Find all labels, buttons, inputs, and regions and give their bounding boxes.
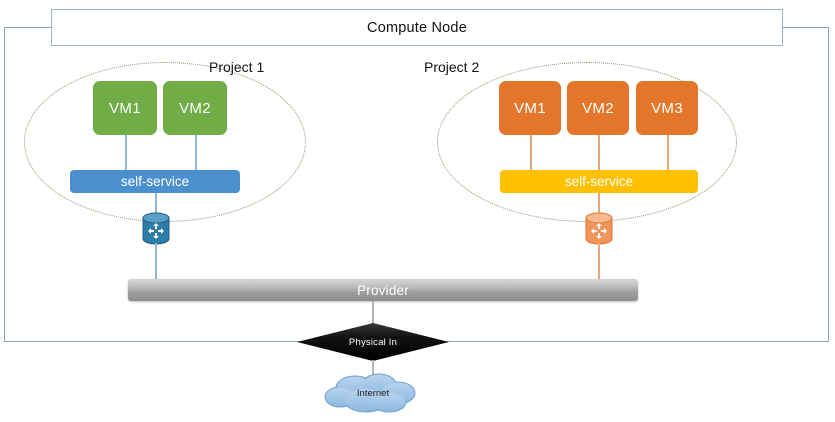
provider-network-label: Provider — [357, 283, 409, 298]
internet-cloud-node[interactable]: Internet — [322, 371, 424, 415]
link-p1-vm2-to-network — [195, 135, 197, 171]
project-2-router-icon[interactable] — [584, 212, 614, 245]
compute-node-title: Compute Node — [367, 20, 467, 36]
project-2-vm-3-label: VM3 — [651, 100, 683, 117]
project-2-vm-1-label: VM1 — [514, 100, 546, 117]
provider-network-bar[interactable]: Provider — [128, 279, 638, 301]
project-2-vm-2[interactable]: VM2 — [567, 81, 629, 135]
project-1-router-icon[interactable] — [141, 212, 171, 245]
project-1-vm-2-label: VM2 — [179, 100, 211, 117]
link-p2-vm3-to-network — [667, 135, 669, 171]
project-1-self-service-network[interactable]: self-service — [70, 170, 240, 193]
link-p2-vm2-to-network — [598, 135, 600, 171]
link-p2-router-to-provider — [598, 243, 600, 280]
link-p1-vm1-to-network — [125, 135, 127, 171]
project-2-vm-3[interactable]: VM3 — [636, 81, 698, 135]
project-2-vm-1[interactable]: VM1 — [499, 81, 561, 135]
link-p2-vm1-to-network — [530, 135, 532, 171]
project-1-vm-2[interactable]: VM2 — [163, 81, 227, 135]
link-p1-router-to-provider — [155, 243, 157, 280]
project-2-self-service-label: self-service — [565, 174, 633, 189]
physical-interface-node[interactable]: Physical In — [297, 323, 449, 361]
project-2-vm-2-label: VM2 — [582, 100, 614, 117]
network-topology-diagram: Compute Node Project 1 VM1 VM2 self-serv… — [0, 0, 835, 422]
project-1-vm-1[interactable]: VM1 — [93, 81, 157, 135]
project-1-self-service-label: self-service — [121, 174, 189, 189]
project-1-label: Project 1 — [209, 59, 264, 75]
project-2-self-service-network[interactable]: self-service — [500, 170, 698, 193]
project-2-label: Project 2 — [424, 59, 479, 75]
project-1-vm-1-label: VM1 — [109, 100, 141, 117]
compute-node-title-box: Compute Node — [51, 9, 783, 46]
